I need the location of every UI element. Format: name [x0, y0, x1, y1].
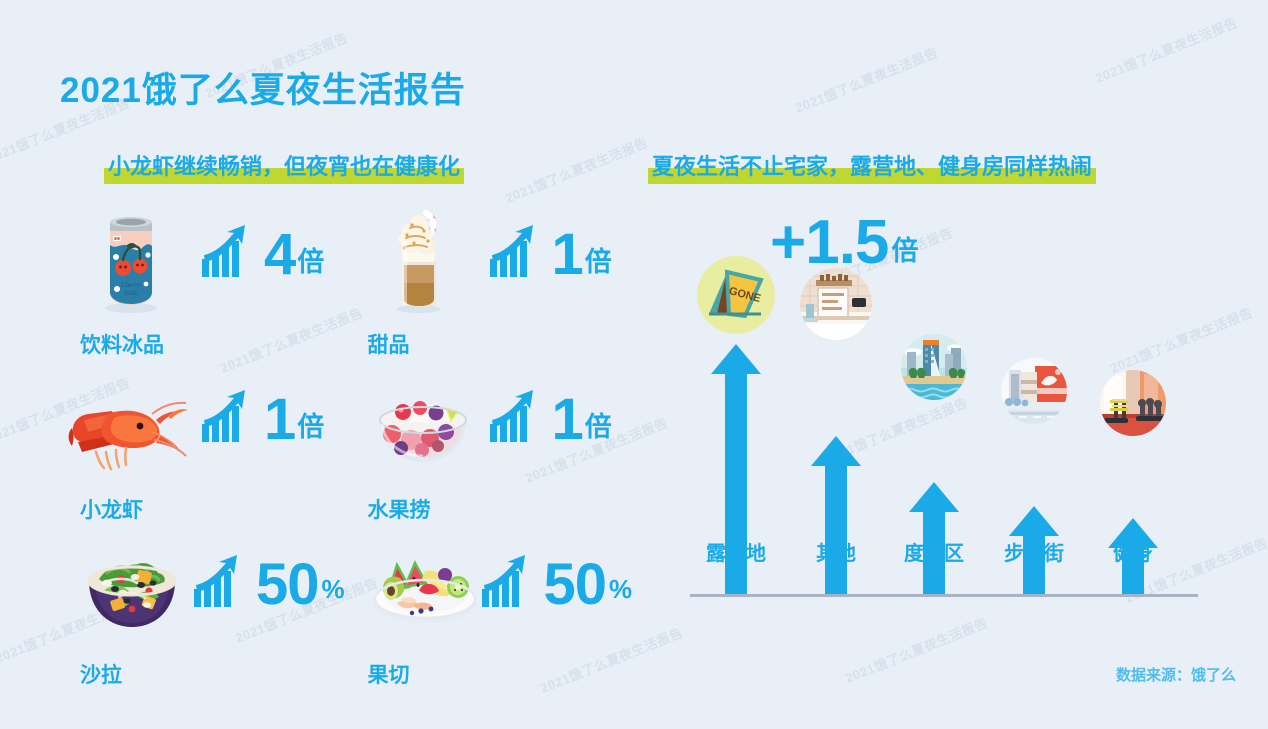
peak-growth-value: +1.5 — [770, 214, 888, 272]
tent-icon: GONE — [697, 256, 775, 334]
section-heading-venues: 夏夜生活不止宅家，露营地、健身房同样热闹 — [648, 152, 1096, 182]
chart-column-other: 其他 — [788, 344, 884, 594]
growth-value: 50 — [544, 559, 607, 611]
bedroom-icon — [800, 268, 872, 340]
chart-baseline — [690, 594, 1198, 597]
growth-indicator: 1 倍 — [488, 223, 612, 281]
food-item-drinks: Cherry Soda — [60, 205, 348, 370]
food-row: Cherry Soda — [60, 205, 635, 370]
chart-column-shopping-street: 步行街 — [986, 422, 1082, 594]
food-row: 1 倍 小龙虾 — [60, 370, 635, 535]
growth-arrow-icon — [480, 553, 538, 611]
fruit-platter-icon — [364, 535, 474, 645]
chart-category-label: 步行街 — [1004, 537, 1064, 566]
growth-arrow-icon — [192, 553, 250, 611]
peak-growth-callout: +1.5 倍 — [770, 214, 918, 272]
food-growth-grid: Cherry Soda — [60, 205, 635, 700]
data-source-note: 数据来源：饿了么 — [1116, 664, 1236, 685]
growth-unit: % — [322, 574, 345, 605]
shopping-street-icon — [1001, 358, 1067, 424]
growth-value: 1 — [264, 394, 295, 446]
food-item-label: 饮料冰品 — [80, 329, 164, 359]
food-item-fruit-bowl: 1 倍 水果捞 — [348, 370, 636, 535]
food-item-label: 沙拉 — [80, 659, 122, 689]
food-item-label: 果切 — [368, 659, 410, 689]
svg-text:Soda: Soda — [124, 289, 139, 297]
growth-indicator: 50 % — [480, 553, 633, 611]
page-title: 2021饿了么夏夜生活报告 — [60, 62, 466, 113]
section-heading-venues-label: 夏夜生活不止宅家，露营地、健身房同样热闹 — [652, 154, 1092, 179]
growth-arrow-icon — [488, 223, 546, 281]
growth-value: 4 — [264, 229, 295, 281]
section-heading-food-label: 小龙虾继续畅销，但夜宵也在健康化 — [108, 154, 460, 179]
growth-unit: 倍 — [585, 405, 612, 444]
growth-value: 1 — [552, 394, 583, 446]
growth-value: 50 — [256, 559, 319, 611]
chart-column-gym: 健身 — [1085, 434, 1181, 594]
chart-arrow-other — [808, 436, 864, 594]
growth-unit: % — [609, 574, 632, 605]
fruit-bowl-icon — [364, 370, 474, 480]
food-item-crayfish: 1 倍 小龙虾 — [60, 370, 348, 535]
soda-can-icon: Cherry Soda — [76, 205, 186, 315]
infographic-page: 2021饿了么夏夜生活报告 2021饿了么夏夜生活报告 2021饿了么夏夜生活报… — [0, 0, 1268, 729]
salad-bowl-icon — [76, 535, 186, 645]
growth-indicator: 1 倍 — [200, 388, 324, 446]
svg-text:Cherry: Cherry — [121, 281, 142, 289]
section-heading-food: 小龙虾继续畅销，但夜宵也在健康化 — [104, 152, 464, 182]
food-row: 50 % 沙拉 — [60, 535, 635, 700]
growth-indicator: 4 倍 — [200, 223, 324, 281]
food-item-label: 小龙虾 — [80, 494, 143, 524]
growth-arrow-icon — [488, 388, 546, 446]
watermark: 2021饿了么夏夜生活报告 — [792, 42, 940, 117]
chart-category-label: 度假区 — [904, 537, 964, 566]
peak-growth-unit: 倍 — [891, 229, 918, 268]
food-item-salad: 50 % 沙拉 — [60, 535, 348, 700]
growth-unit: 倍 — [297, 240, 324, 279]
growth-unit: 倍 — [297, 405, 324, 444]
growth-indicator: 1 倍 — [488, 388, 612, 446]
food-item-dessert: 1 倍 甜品 — [348, 205, 636, 370]
growth-unit: 倍 — [585, 240, 612, 279]
chart-column-resort: 度假区 — [886, 398, 982, 594]
food-item-label: 水果捞 — [368, 494, 431, 524]
milkshake-icon — [364, 205, 474, 315]
crayfish-icon — [76, 370, 186, 480]
food-item-cut-fruit: 50 % 果切 — [348, 535, 636, 700]
venue-growth-chart: GONE 露营地 — [648, 190, 1228, 660]
resort-icon — [901, 334, 967, 400]
gym-icon — [1100, 370, 1166, 436]
watermark: 2021饿了么夏夜生活报告 — [1092, 12, 1240, 87]
chart-column-campsite: GONE 露营地 — [688, 264, 784, 594]
chart-category-label: 露营地 — [706, 537, 766, 566]
chart-category-label: 健身 — [1113, 537, 1153, 566]
growth-indicator: 50 % — [192, 553, 345, 611]
growth-arrow-icon — [200, 223, 258, 281]
food-item-label: 甜品 — [368, 329, 410, 359]
growth-value: 1 — [552, 229, 583, 281]
growth-arrow-icon — [200, 388, 258, 446]
chart-category-label: 其他 — [816, 537, 856, 566]
watermark: 2021饿了么夏夜生活报告 — [502, 132, 650, 207]
